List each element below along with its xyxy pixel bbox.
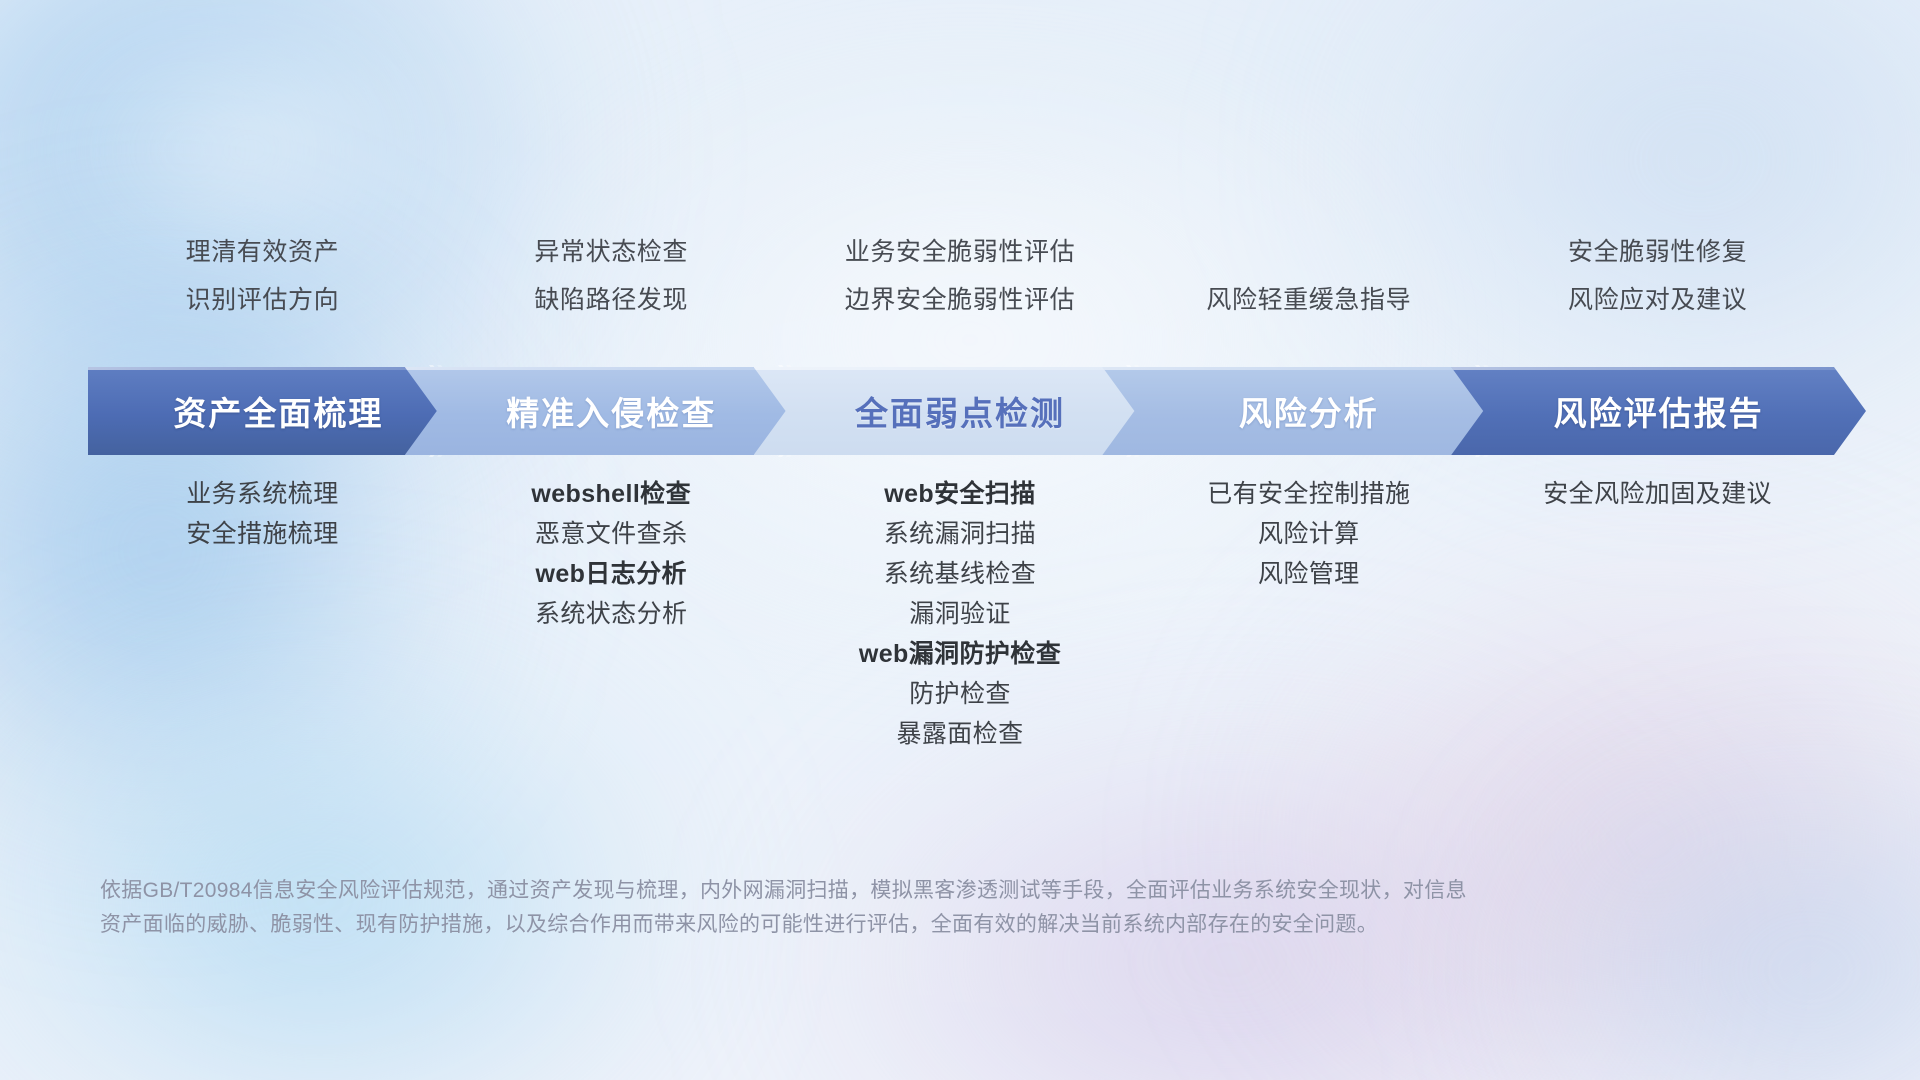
list-item: 安全措施梳理 <box>88 514 437 554</box>
footer-line-1: 依据GB/T20984信息安全风险评估规范，通过资产发现与梳理，内外网漏洞扫描，… <box>100 874 1660 908</box>
list-item: 系统基线检查 <box>786 554 1135 594</box>
detail-list-risk-report: 安全风险加固及建议 <box>1483 474 1832 514</box>
list-item: 漏洞验证 <box>786 594 1135 634</box>
chevron-stage-asset-inventory[interactable]: 资产全面梳理 <box>88 367 437 455</box>
list-item: 系统漏洞扫描 <box>786 514 1135 554</box>
list-item: 已有安全控制措施 <box>1134 474 1483 514</box>
process-chevron-band: 资产全面梳理 精准入侵检查 全面弱点检测 <box>88 367 1832 455</box>
chevron-stage-risk-analysis[interactable]: 风险分析 <box>1134 367 1483 455</box>
list-item: 防护检查 <box>786 674 1135 714</box>
chevron-label: 风险分析 <box>1239 387 1379 435</box>
list-item: 恶意文件查杀 <box>437 514 786 554</box>
top-note: 异常状态检查 <box>437 228 786 276</box>
top-note: 缺陷路径发现 <box>437 276 786 324</box>
list-item: web日志分析 <box>437 554 786 594</box>
top-notes-col-asset-inventory: 理清有效资产 识别评估方向 <box>88 228 437 324</box>
list-item: web漏洞防护检查 <box>786 634 1135 674</box>
top-notes-row: 理清有效资产 识别评估方向 异常状态检查 缺陷路径发现 业务安全脆弱性评估 边界… <box>88 228 1832 324</box>
chevron-label: 精准入侵检查 <box>506 387 716 435</box>
list-item: web安全扫描 <box>786 474 1135 514</box>
list-item: 系统状态分析 <box>437 594 786 634</box>
stage-detail-lists: 业务系统梳理 安全措施梳理 webshell检查 恶意文件查杀 web日志分析 … <box>88 474 1832 754</box>
slide-canvas: 理清有效资产 识别评估方向 异常状态检查 缺陷路径发现 业务安全脆弱性评估 边界… <box>0 0 1920 1080</box>
top-notes-col-intrusion-check: 异常状态检查 缺陷路径发现 <box>437 228 786 324</box>
top-notes-col-weakness-detection: 业务安全脆弱性评估 边界安全脆弱性评估 <box>786 228 1135 324</box>
list-item: 风险计算 <box>1134 514 1483 554</box>
chevron-stage-weakness-detection[interactable]: 全面弱点检测 <box>786 367 1135 455</box>
top-note: 理清有效资产 <box>88 228 437 276</box>
top-notes-col-risk-report: 安全脆弱性修复 风险应对及建议 <box>1483 228 1832 324</box>
detail-list-intrusion-check: webshell检查 恶意文件查杀 web日志分析 系统状态分析 <box>437 474 786 634</box>
list-item: 暴露面检查 <box>786 714 1135 754</box>
chevron-label: 资产全面梳理 <box>173 387 383 435</box>
list-item: 业务系统梳理 <box>88 474 437 514</box>
chevron-label: 风险评估报告 <box>1554 387 1764 435</box>
detail-list-risk-analysis: 已有安全控制措施 风险计算 风险管理 <box>1134 474 1483 594</box>
chevron-stage-risk-report[interactable]: 风险评估报告 <box>1483 367 1832 455</box>
footer-description: 依据GB/T20984信息安全风险评估规范，通过资产发现与梳理，内外网漏洞扫描，… <box>100 874 1660 942</box>
detail-list-weakness-detection: web安全扫描 系统漏洞扫描 系统基线检查 漏洞验证 web漏洞防护检查 防护检… <box>786 474 1135 754</box>
top-note: 安全脆弱性修复 <box>1483 228 1832 276</box>
top-note: 识别评估方向 <box>88 276 437 324</box>
top-note: 业务安全脆弱性评估 <box>786 228 1135 276</box>
chevron-label: 全面弱点检测 <box>855 387 1065 435</box>
top-note: 边界安全脆弱性评估 <box>786 276 1135 324</box>
top-notes-col-risk-analysis: 风险轻重缓急指导 <box>1134 276 1483 324</box>
top-note: 风险应对及建议 <box>1483 276 1832 324</box>
footer-line-2: 资产面临的威胁、脆弱性、现有防护措施，以及综合作用而带来风险的可能性进行评估，全… <box>100 908 1660 942</box>
list-item: webshell检查 <box>437 474 786 514</box>
top-note: 风险轻重缓急指导 <box>1134 276 1483 324</box>
detail-list-asset-inventory: 业务系统梳理 安全措施梳理 <box>88 474 437 554</box>
chevron-stage-intrusion-check[interactable]: 精准入侵检查 <box>437 367 786 455</box>
list-item: 风险管理 <box>1134 554 1483 594</box>
list-item: 安全风险加固及建议 <box>1483 474 1832 514</box>
